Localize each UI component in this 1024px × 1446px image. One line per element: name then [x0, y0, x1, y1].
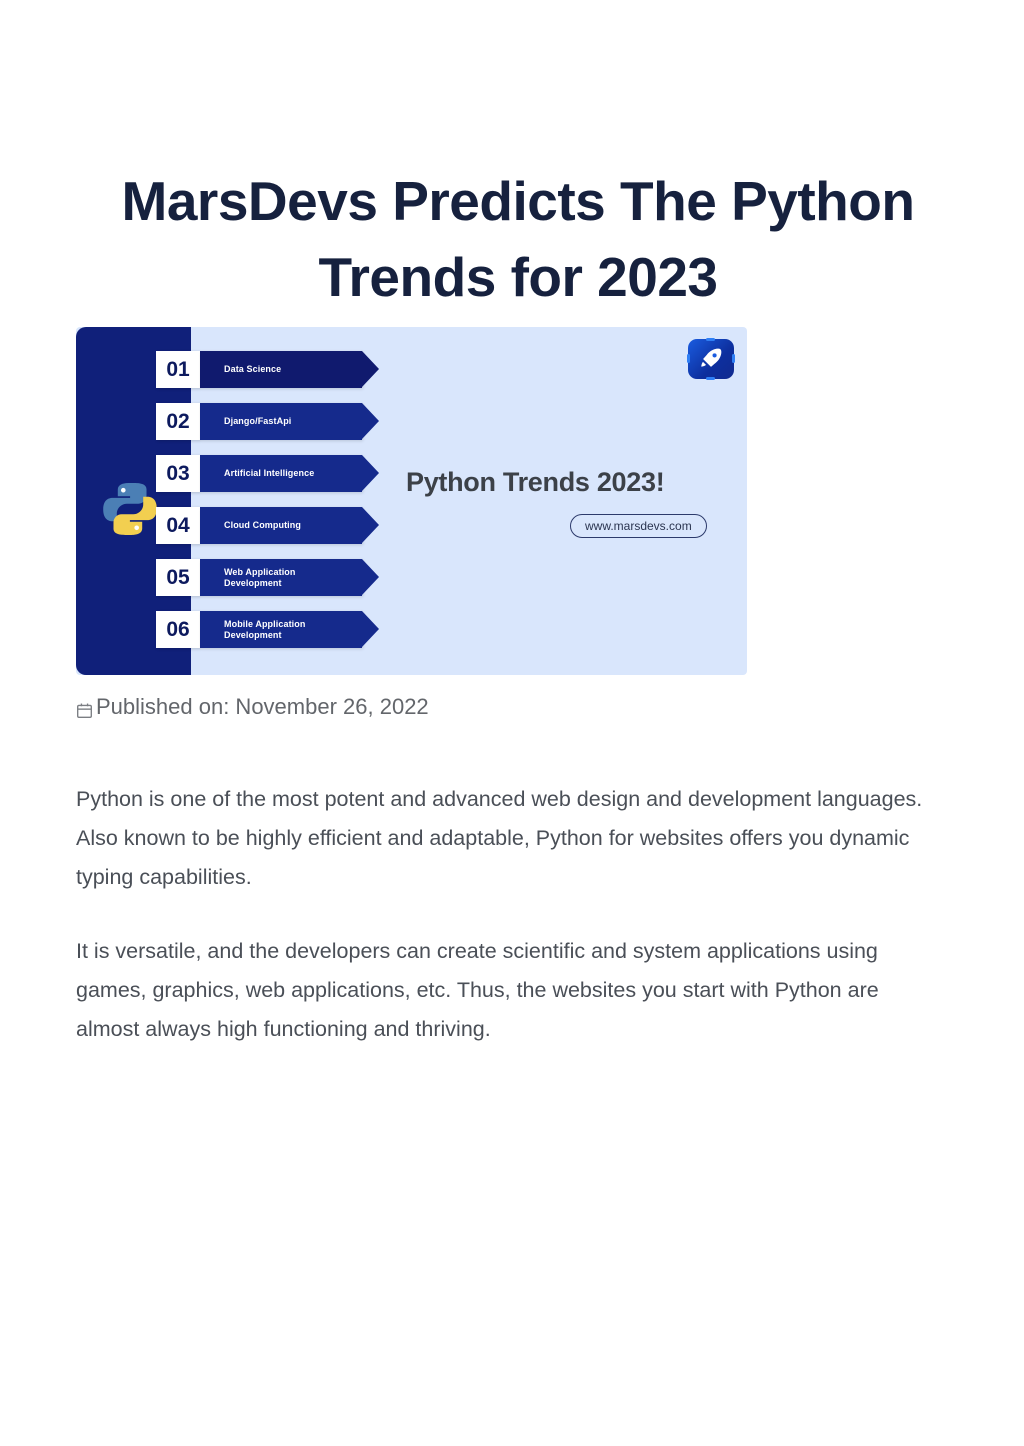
- row-label-line1: Data Science: [224, 364, 281, 374]
- infographic-url-badge: www.marsdevs.com: [570, 514, 707, 538]
- row-number: 01: [156, 351, 200, 388]
- row-bar: Data Science: [200, 351, 362, 388]
- row-label-line1: Web Application: [224, 567, 296, 577]
- infographic-row: 01 Data Science: [156, 351, 362, 388]
- row-label: Django/FastApi: [200, 416, 291, 427]
- body-paragraph-1: Python is one of the most potent and adv…: [76, 780, 946, 897]
- infographic-row: 06 Mobile Application Development: [156, 611, 362, 648]
- article-page: MarsDevs Predicts The Python Trends for …: [0, 0, 1024, 1446]
- row-number: 05: [156, 559, 200, 596]
- infographic-row: 05 Web Application Development: [156, 559, 362, 596]
- row-bar: Cloud Computing: [200, 507, 362, 544]
- row-label-line1: Cloud Computing: [224, 520, 301, 530]
- infographic-row-list: 01 Data Science 02 Django/FastApi 03: [76, 327, 747, 675]
- infographic-row: 03 Artificial Intelligence: [156, 455, 362, 492]
- row-label: Cloud Computing: [200, 520, 301, 531]
- row-bar: Web Application Development: [200, 559, 362, 596]
- row-bar: Artificial Intelligence: [200, 455, 362, 492]
- infographic-row: 02 Django/FastApi: [156, 403, 362, 440]
- calendar-icon: [76, 699, 93, 716]
- infographic-row: 04 Cloud Computing: [156, 507, 362, 544]
- row-number: 04: [156, 507, 200, 544]
- row-label-line1: Django/FastApi: [224, 416, 291, 426]
- body-paragraph-2: It is versatile, and the developers can …: [76, 932, 946, 1049]
- row-label-line2: Development: [224, 630, 282, 640]
- page-title: MarsDevs Predicts The Python Trends for …: [85, 163, 951, 315]
- row-label-line1: Mobile Application: [224, 619, 305, 629]
- row-label-line2: Development: [224, 578, 282, 588]
- row-number: 02: [156, 403, 200, 440]
- row-bar: Mobile Application Development: [200, 611, 362, 648]
- row-label: Mobile Application Development: [200, 619, 305, 641]
- row-label: Artificial Intelligence: [200, 468, 314, 479]
- published-date: Published on: November 26, 2022: [76, 694, 429, 720]
- infographic-heading: Python Trends 2023!: [406, 467, 664, 498]
- published-date-text: Published on: November 26, 2022: [96, 694, 429, 720]
- row-label: Web Application Development: [200, 567, 296, 589]
- row-bar: Django/FastApi: [200, 403, 362, 440]
- row-label-line1: Artificial Intelligence: [224, 468, 314, 478]
- rocket-icon: [688, 339, 734, 379]
- infographic-image: 01 Data Science 02 Django/FastApi 03: [76, 327, 747, 675]
- row-number: 06: [156, 611, 200, 648]
- row-label: Data Science: [200, 364, 281, 375]
- row-number: 03: [156, 455, 200, 492]
